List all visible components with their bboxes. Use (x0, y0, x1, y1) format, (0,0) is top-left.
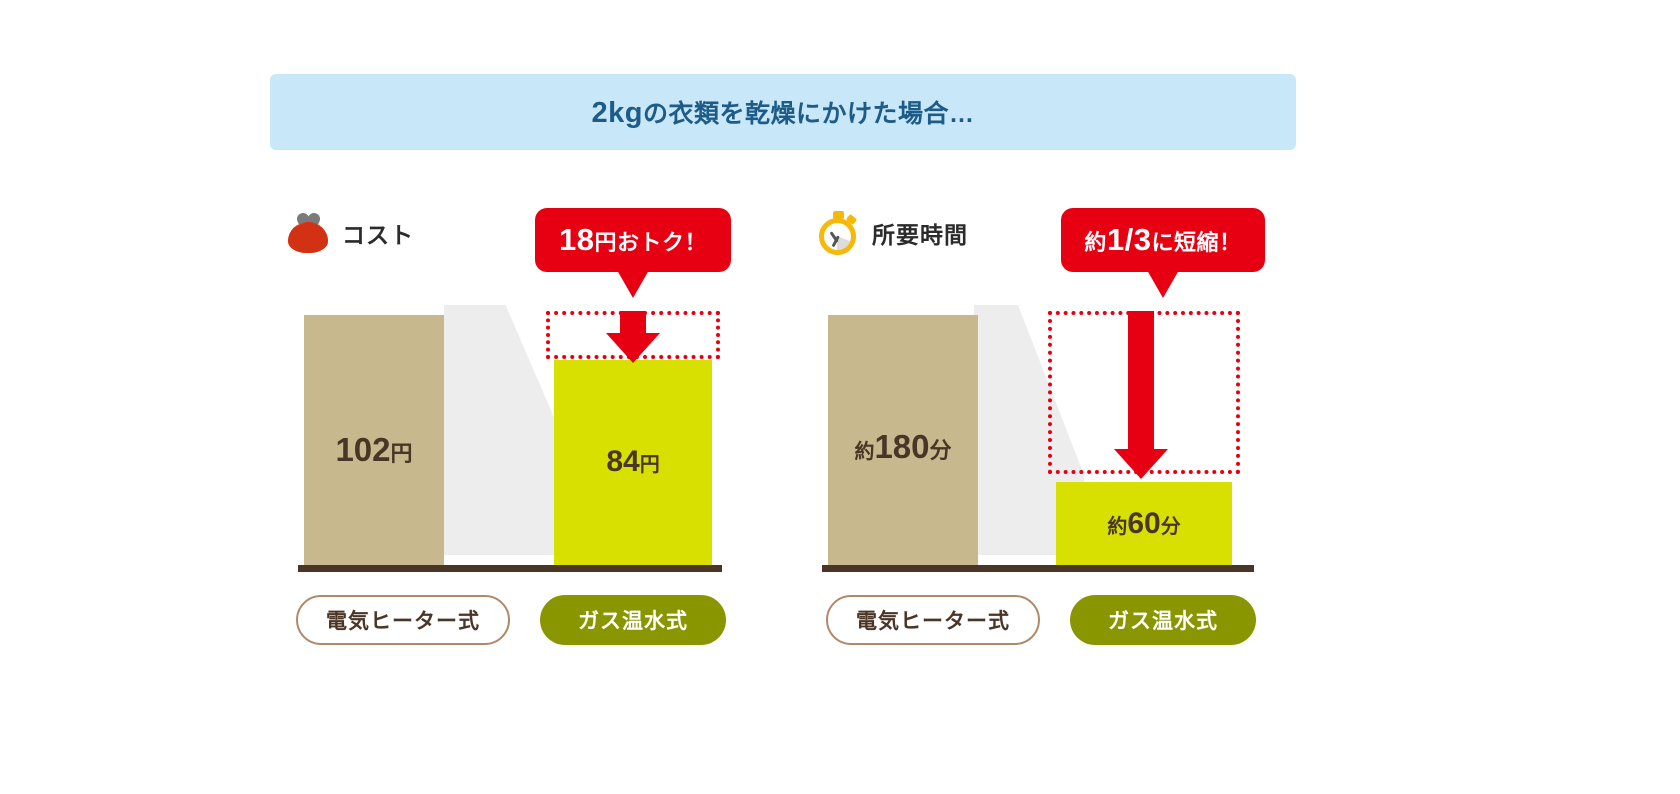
callout-cost-tail (617, 270, 649, 298)
bar-time-gas-value: 約60分 (1056, 507, 1232, 541)
section-cost: コスト 18円おトク！ 102円 84円 (278, 195, 748, 665)
bar-cost-electric-value: 102円 (304, 431, 444, 469)
stopwatch-icon (816, 211, 860, 255)
callout-time-value: 1/3 (1107, 222, 1152, 257)
chart-time: 約180分 約60分 (808, 305, 1278, 565)
section-cost-header: コスト (286, 211, 414, 255)
callout-cost-value: 18 (559, 222, 594, 257)
section-time-header: 所要時間 (816, 211, 968, 255)
section-time: 所要時間 約1/3に短縮！ 約180分 約60分 (808, 195, 1278, 665)
callout-time: 約1/3に短縮！ (1061, 208, 1265, 272)
callout-time-prefix: 約 (1084, 230, 1107, 255)
pill-time-electric-label: 電気ヒーター式 (856, 605, 1010, 635)
pill-cost-gas-label: ガス温水式 (578, 605, 688, 635)
section-time-title: 所要時間 (872, 216, 968, 250)
chart-cost: 102円 84円 (278, 305, 748, 565)
callout-time-tail (1147, 270, 1179, 298)
pill-time-electric[interactable]: 電気ヒーター式 (826, 595, 1040, 645)
connector-shape-cost (444, 305, 554, 555)
bar-time-electric: 約180分 (828, 315, 978, 565)
bar-time-electric-value: 約180分 (828, 428, 978, 466)
pill-time-gas[interactable]: ガス温水式 (1070, 595, 1256, 645)
section-cost-title: コスト (342, 216, 414, 250)
bar-cost-electric: 102円 (304, 315, 444, 565)
bar-cost-gas-value: 84円 (554, 445, 712, 479)
down-arrow-time (1114, 311, 1168, 479)
pill-cost-electric[interactable]: 電気ヒーター式 (296, 595, 510, 645)
headline-text: 2kgの衣類を乾燥にかけた場合… (592, 94, 975, 130)
callout-time-rest: に短縮！ (1152, 230, 1242, 255)
pill-cost-gas[interactable]: ガス温水式 (540, 595, 726, 645)
purse-icon (286, 211, 330, 255)
pill-time-gas-label: ガス温水式 (1108, 605, 1218, 635)
infographic-root: 2kgの衣類を乾燥にかけた場合… コスト 18円おトク！ 102円 (0, 0, 1680, 794)
pill-cost-electric-label: 電気ヒーター式 (326, 605, 480, 635)
headline-rest: の衣類を乾燥にかけた場合… (643, 100, 975, 128)
baseline-cost (298, 565, 722, 572)
callout-time-text: 約1/3に短縮！ (1084, 222, 1241, 258)
callout-cost: 18円おトク！ (535, 208, 731, 272)
baseline-time (822, 565, 1254, 572)
callout-cost-rest: 円おトク！ (594, 230, 707, 255)
bar-cost-gas: 84円 (554, 360, 712, 565)
headline-prefix: 2kg (592, 97, 643, 129)
callout-cost-text: 18円おトク！ (559, 222, 707, 258)
bar-time-gas: 約60分 (1056, 482, 1232, 565)
headline-banner: 2kgの衣類を乾燥にかけた場合… (270, 74, 1296, 150)
down-arrow-cost (606, 311, 660, 363)
